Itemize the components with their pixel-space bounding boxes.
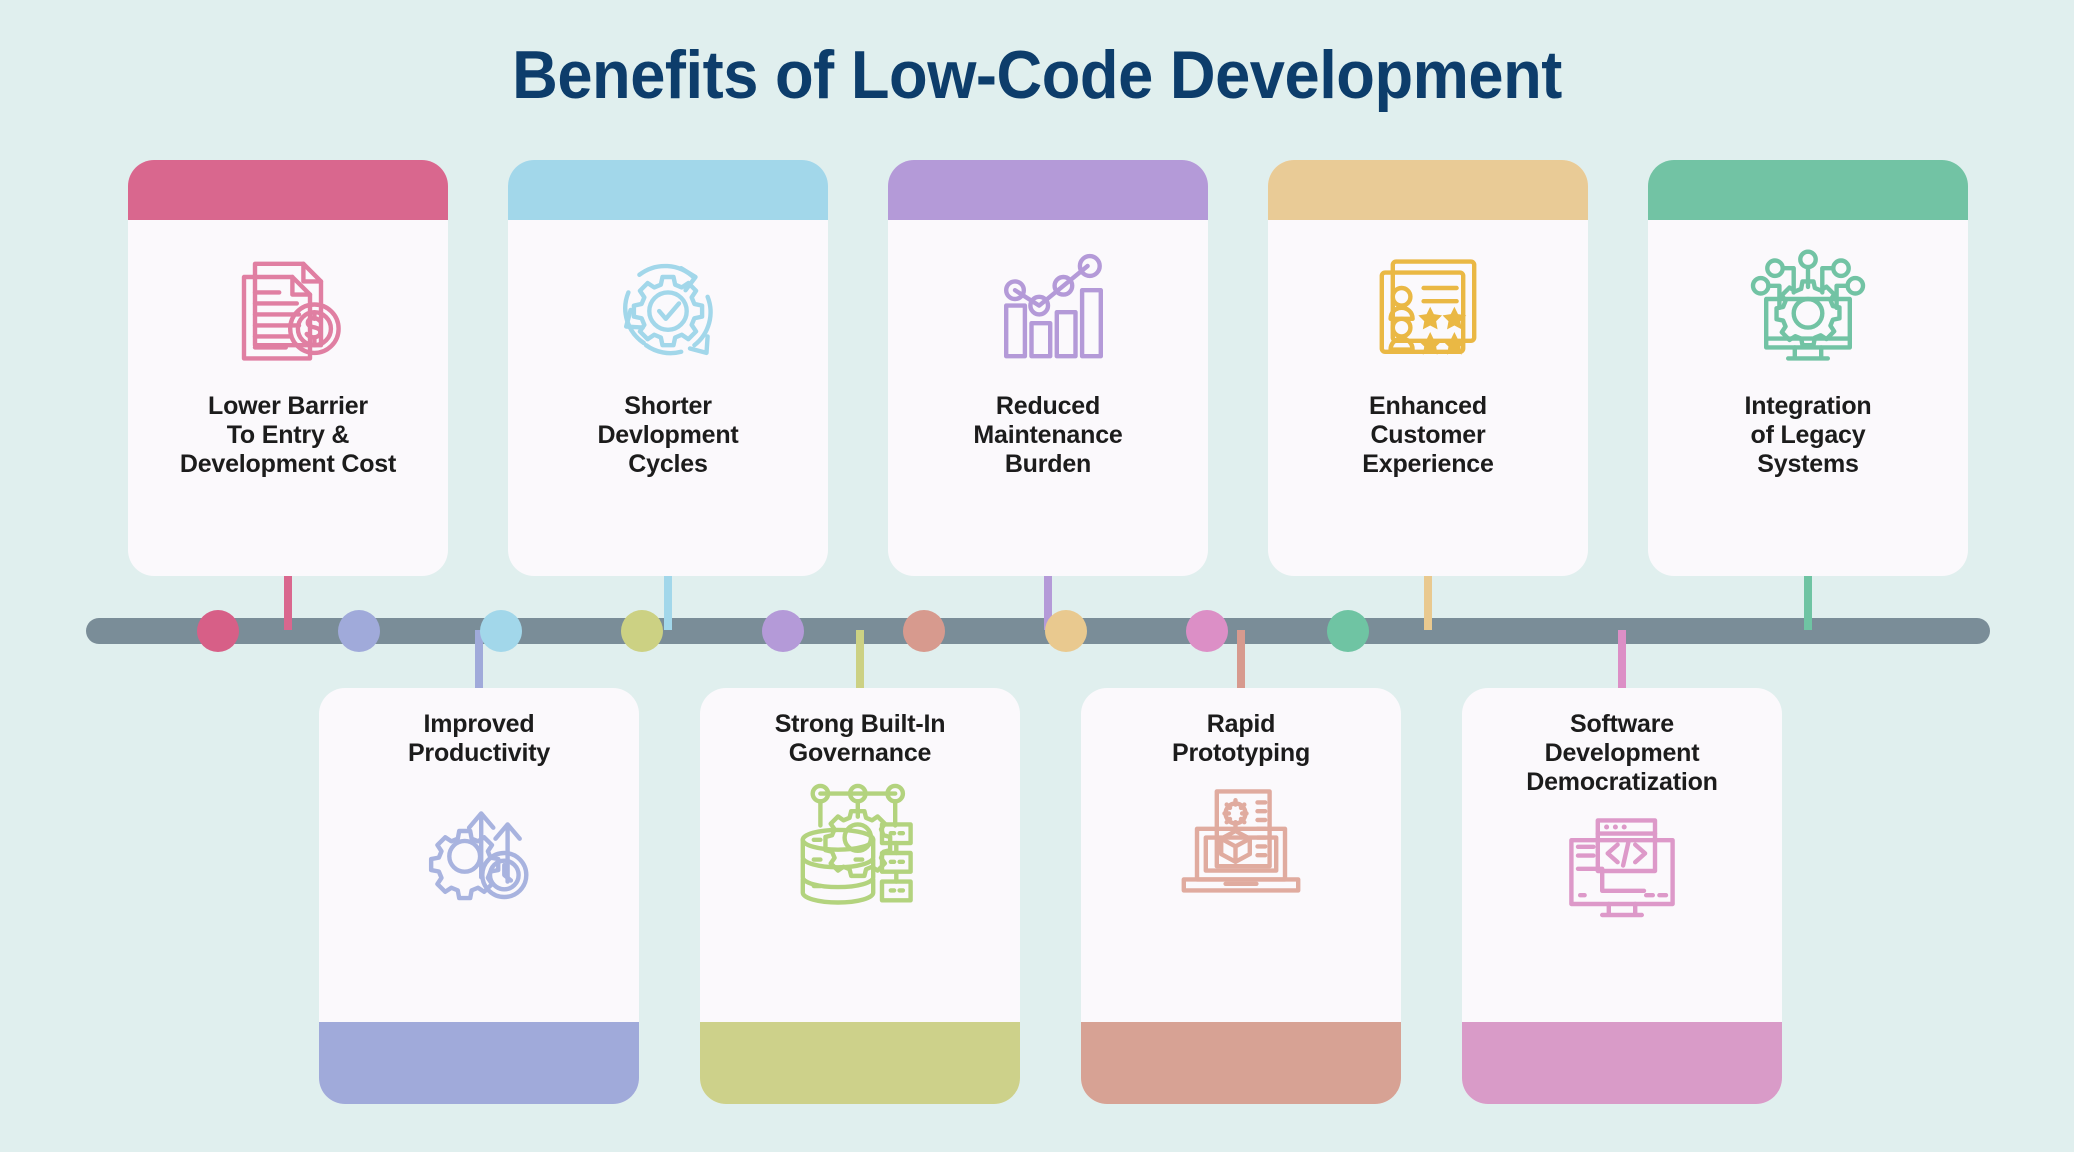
database-gear-flow-icon xyxy=(794,776,926,908)
benefit-card-enhanced-customer[interactable]: Enhanced Customer Experience xyxy=(1268,160,1588,576)
card-body-shorter-cycles: Shorter Devlopment Cycles xyxy=(508,220,828,576)
benefit-card-reduced-maintenance[interactable]: Reduced Maintenance Burden xyxy=(888,160,1208,576)
card-color-band-enhanced-customer xyxy=(1268,160,1588,220)
card-label-lower-barrier: Lower Barrier To Entry & Development Cos… xyxy=(180,392,396,479)
gear-refresh-check-icon xyxy=(602,244,734,376)
bar-chart-line-icon xyxy=(982,244,1114,376)
card-color-band-integration-legacy xyxy=(1648,160,1968,220)
benefit-card-integration-legacy[interactable]: Integration of Legacy Systems xyxy=(1648,160,1968,576)
card-body-enhanced-customer: Enhanced Customer Experience xyxy=(1268,220,1588,576)
dot-improved-productivity[interactable] xyxy=(338,610,380,652)
reviews-stars-icon xyxy=(1362,244,1494,376)
dot-lower-barrier[interactable] xyxy=(197,610,239,652)
card-color-band-shorter-cycles xyxy=(508,160,828,220)
card-body-integration-legacy: Integration of Legacy Systems xyxy=(1648,220,1968,576)
card-label-software-democratization: Software Development Democratization xyxy=(1526,710,1717,797)
card-color-band-reduced-maintenance xyxy=(888,160,1208,220)
dot-reduced-maintenance[interactable] xyxy=(762,610,804,652)
dot-integration-legacy[interactable] xyxy=(1327,610,1369,652)
card-body-software-democratization: Software Development Democratization xyxy=(1462,688,1782,1022)
card-label-strong-governance: Strong Built-In Governance xyxy=(775,710,946,768)
benefit-card-software-democratization[interactable]: Software Development Democratization xyxy=(1462,688,1782,1104)
monitor-gear-network-icon xyxy=(1742,244,1874,376)
card-color-band-improved-productivity xyxy=(319,1022,639,1104)
benefit-card-strong-governance[interactable]: Strong Built-In Governance xyxy=(700,688,1020,1104)
card-color-band-software-democratization xyxy=(1462,1022,1782,1104)
page-title: Benefits of Low-Code Development xyxy=(73,36,2002,114)
card-label-reduced-maintenance: Reduced Maintenance Burden xyxy=(973,392,1122,479)
monitor-code-icon xyxy=(1556,805,1688,937)
card-body-lower-barrier: Lower Barrier To Entry & Development Cos… xyxy=(128,220,448,576)
benefit-card-rapid-prototyping[interactable]: Rapid Prototyping xyxy=(1081,688,1401,1104)
card-label-rapid-prototyping: Rapid Prototyping xyxy=(1172,710,1310,768)
dot-shorter-cycles[interactable] xyxy=(480,610,522,652)
dot-rapid-prototyping[interactable] xyxy=(903,610,945,652)
card-label-enhanced-customer: Enhanced Customer Experience xyxy=(1362,392,1493,479)
benefit-card-shorter-cycles[interactable]: Shorter Devlopment Cycles xyxy=(508,160,828,576)
infographic-root: Benefits of Low-Code Development Lower B… xyxy=(0,0,2074,1152)
card-body-strong-governance: Strong Built-In Governance xyxy=(700,688,1020,1022)
laptop-prototype-icon xyxy=(1175,776,1307,908)
card-label-improved-productivity: Improved Productivity xyxy=(408,710,550,768)
card-body-improved-productivity: Improved Productivity xyxy=(319,688,639,1022)
dot-enhanced-customer[interactable] xyxy=(1045,610,1087,652)
card-body-rapid-prototyping: Rapid Prototyping xyxy=(1081,688,1401,1022)
card-body-reduced-maintenance: Reduced Maintenance Burden xyxy=(888,220,1208,576)
card-color-band-rapid-prototyping xyxy=(1081,1022,1401,1104)
card-label-shorter-cycles: Shorter Devlopment Cycles xyxy=(597,392,738,479)
dot-strong-governance[interactable] xyxy=(621,610,663,652)
gear-arrows-clock-icon xyxy=(413,776,545,908)
card-label-integration-legacy: Integration of Legacy Systems xyxy=(1745,392,1872,479)
dot-software-democratization[interactable] xyxy=(1186,610,1228,652)
benefit-card-improved-productivity[interactable]: Improved Productivity xyxy=(319,688,639,1104)
document-dollar-icon xyxy=(222,244,354,376)
card-color-band-lower-barrier xyxy=(128,160,448,220)
benefit-card-lower-barrier[interactable]: Lower Barrier To Entry & Development Cos… xyxy=(128,160,448,576)
card-color-band-strong-governance xyxy=(700,1022,1020,1104)
